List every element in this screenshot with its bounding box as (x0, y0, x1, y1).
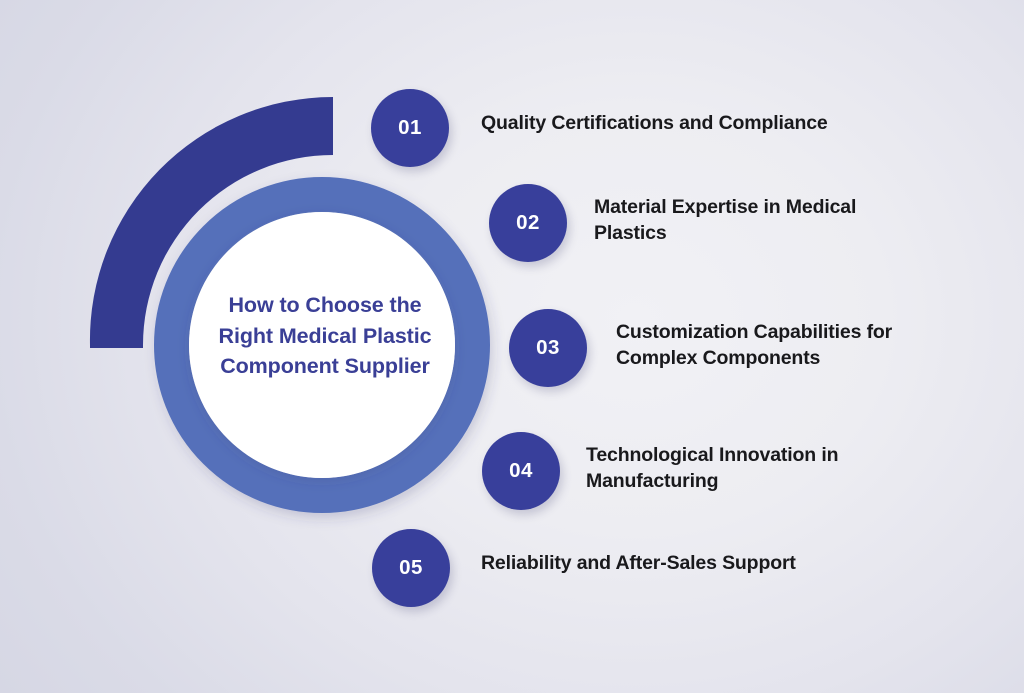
step-label-02: Material Expertise in Medical Plastics (594, 195, 924, 247)
step-badge-02[interactable]: 02 (489, 184, 567, 262)
center-title: How to Choose the Right Medical Plastic … (196, 290, 454, 382)
step-label-05: Reliability and After-Sales Support (481, 551, 881, 577)
step-label-03: Customization Capabilities for Complex C… (616, 320, 956, 372)
step-badge-05[interactable]: 05 (372, 529, 450, 607)
step-badge-03[interactable]: 03 (509, 309, 587, 387)
step-badge-04[interactable]: 04 (482, 432, 560, 510)
step-label-04: Technological Innovation in Manufacturin… (586, 443, 906, 495)
step-badge-01[interactable]: 01 (371, 89, 449, 167)
step-label-01: Quality Certifications and Compliance (481, 111, 901, 137)
infographic-canvas: How to Choose the Right Medical Plastic … (0, 0, 1024, 693)
